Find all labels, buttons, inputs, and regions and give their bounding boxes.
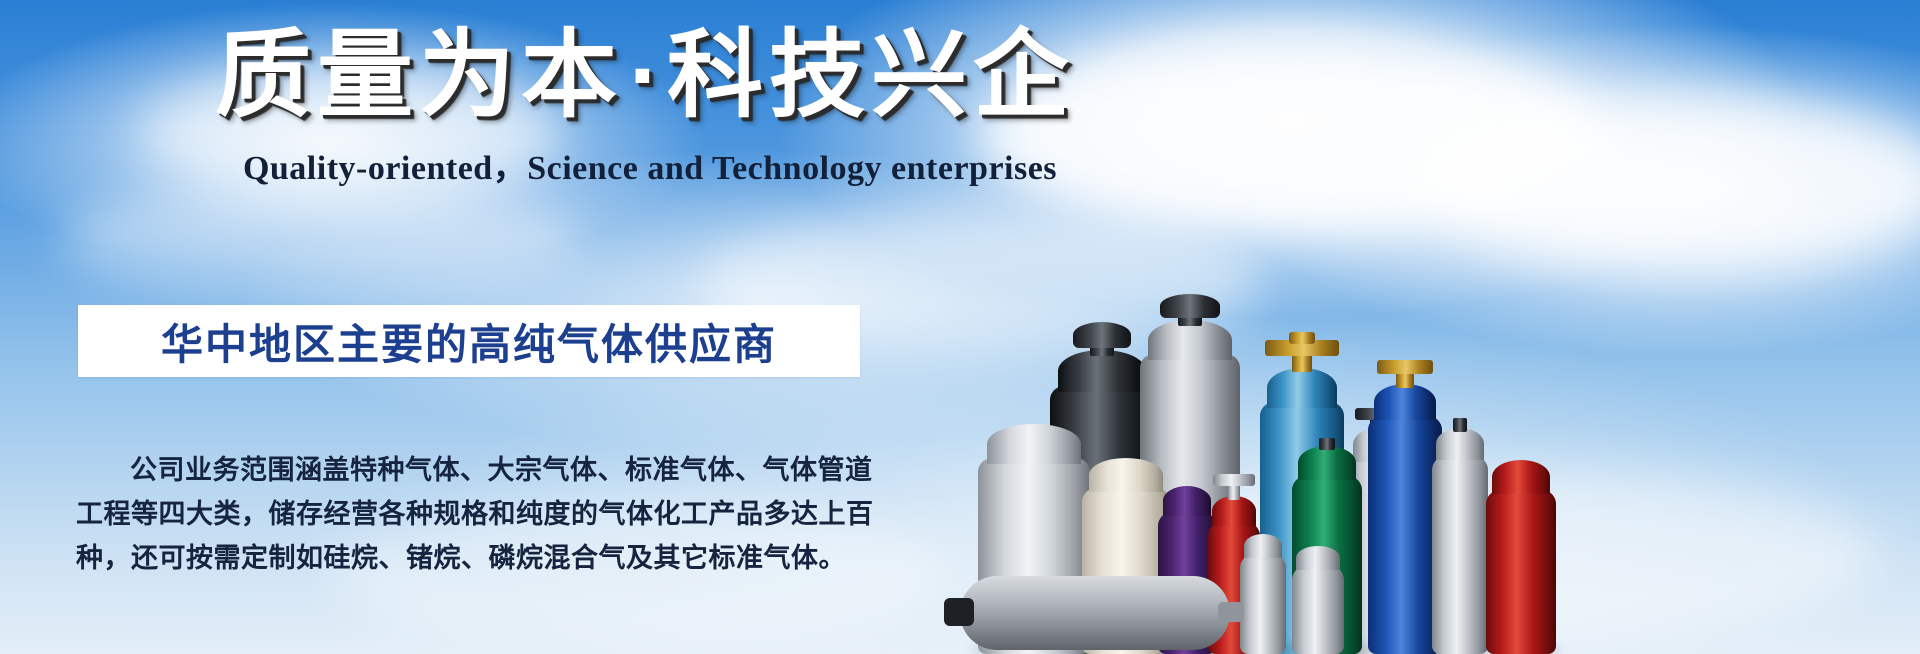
paragraph-line: 工程等四大类，储存经营各种规格和纯度的气体化工产品多达上百 xyxy=(76,492,876,536)
paragraph-line: 种，还可按需定制如硅烷、锗烷、磷烷混合气及其它标准气体。 xyxy=(76,536,876,580)
small-aluminium-bottle-two xyxy=(1292,544,1344,654)
gas-cylinder-group xyxy=(940,150,1920,654)
horizontal-grey-tank xyxy=(960,576,1230,650)
headline-part-two: 科技兴企 xyxy=(667,22,1075,129)
headline-separator: · xyxy=(623,22,667,129)
dark-red-cylinder xyxy=(1486,456,1556,654)
highlight-box-text: 华中地区主要的高纯气体供应商 xyxy=(161,311,777,372)
small-aluminium-bottle xyxy=(1240,530,1286,654)
headline-part-one: 质量为本 xyxy=(215,22,623,129)
aluminium-cylinder-right xyxy=(1432,410,1488,654)
cloud-decoration xyxy=(60,180,580,300)
highlight-box: 华中地区主要的高纯气体供应商 xyxy=(78,305,860,377)
hero-banner: 质量为本·科技兴企 Quality-oriented，Science and T… xyxy=(0,0,1920,654)
paragraph-line: 公司业务范围涵盖特种气体、大宗气体、标准气体、气体管道 xyxy=(76,448,876,492)
royal-blue-cylinder xyxy=(1368,354,1442,654)
banner-headline: 质量为本·科技兴企 xyxy=(0,22,1290,130)
banner-paragraph: 公司业务范围涵盖特种气体、大宗气体、标准气体、气体管道 工程等四大类，储存经营各… xyxy=(76,448,876,580)
